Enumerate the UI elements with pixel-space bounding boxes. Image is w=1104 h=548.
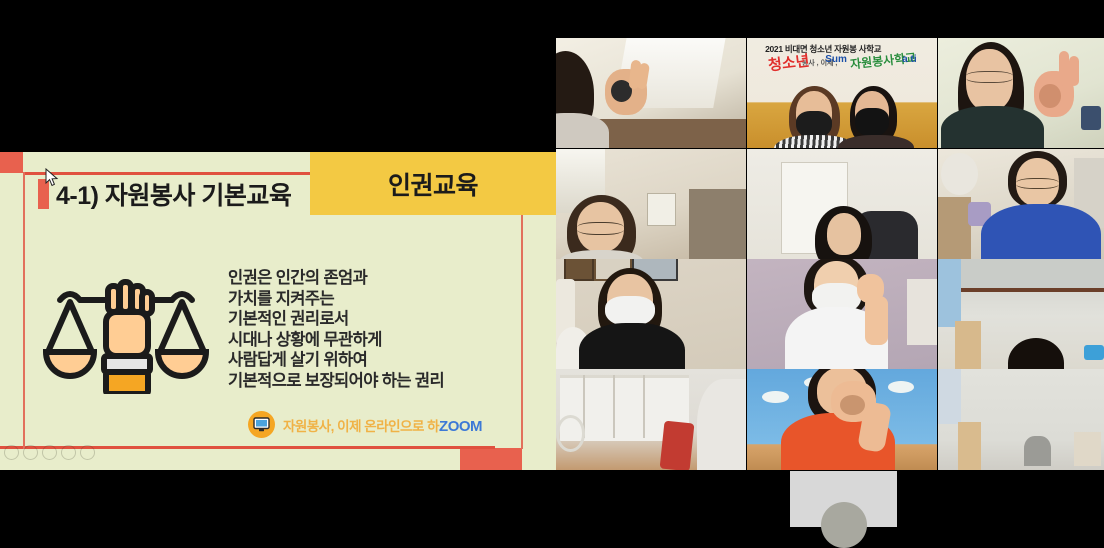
red-chair [660,420,695,470]
fist-holding-scales-of-justice-icon [36,268,216,394]
default-avatar-icon [821,502,867,548]
mouse-pointer-icon [45,168,59,187]
furniture [958,422,981,470]
slide-footer-label: 자원봉사, 이제 온라인으로 하 [283,419,439,434]
participant-tile-6[interactable] [938,149,1104,259]
pointer-icon[interactable] [4,445,19,460]
slide-title-text: 4-1) 자원봉사 기본교육 [56,176,291,212]
stamp-icon[interactable] [42,445,57,460]
slide-rule-left [23,172,25,449]
slide-corner-decoration-top-left [0,152,23,173]
participant-tile-3[interactable] [938,38,1104,148]
object [1084,345,1104,360]
participant-tile-7[interactable] [556,259,746,369]
object [1074,432,1101,466]
torso [579,323,685,369]
wall-panel [938,259,961,327]
slide-rule-right [521,215,523,449]
chair-wheel [556,415,585,451]
banner-sticker-tail: a ti [902,54,916,65]
head [827,213,861,255]
object [1024,436,1051,466]
finger [1059,51,1069,86]
eraser-icon[interactable] [80,445,95,460]
ceiling [938,259,1104,292]
paper [647,193,676,226]
slide-footer-text: 자원봉사, 이제 온라인으로 하ZOOM [283,415,482,435]
participant-tile-12[interactable] [938,369,1104,470]
glasses-icon [1016,178,1059,190]
banner-sticker-red: 청소년 [767,50,811,76]
object [1081,106,1101,130]
screen-share-area[interactable]: 4-1) 자원봉사 기본교육 인권교육 [0,0,556,527]
participant-tile-1[interactable] [556,38,746,148]
ok-hand-hole [1039,84,1061,108]
participant-tile-8[interactable] [747,259,937,369]
torso [981,204,1101,259]
cabinet-divider [613,375,615,438]
shelf [938,197,971,259]
glasses-icon [966,71,1012,83]
photo-wall [689,189,746,259]
participant-tile-9[interactable] [938,259,1104,369]
participant-tile-13-camera-off[interactable] [790,471,897,527]
pen-icon[interactable] [23,445,38,460]
mirror [941,153,978,195]
furniture [955,321,982,369]
monitor-icon [248,411,275,438]
slide-topic-badge: 인권교육 [310,152,556,215]
zoom-brand-label: ZOOM [439,418,482,435]
wall-panel [938,369,961,424]
arm [865,296,888,344]
person-shoulder [697,379,746,470]
glasses-icon [577,222,625,235]
shelf [907,279,937,345]
slide-title: 4-1) 자원봉사 기본교육 [38,176,291,212]
participant-tile-5[interactable] [747,149,937,259]
participant-tile-2[interactable]: 2021 비대면 청소년 자원봉 사학교 봉사 , 이제 , 청소년 Sum 자… [747,38,937,148]
slide-topic-badge-label: 인권교육 [388,166,478,202]
participant-gallery[interactable]: 2021 비대면 청소년 자원봉 사학교 봉사 , 이제 , 청소년 Sum 자… [556,0,1104,527]
torso [941,106,1044,148]
annotation-toolbar[interactable] [4,445,95,460]
picture-frame [564,259,595,281]
banner-sticker-mid: Sum [825,54,847,65]
event-banner: 2021 비대면 청소년 자원봉 사학교 봉사 , 이제 , 청소년 Sum 자… [758,42,925,75]
participant-tile-10[interactable] [556,369,746,470]
spotlight-icon[interactable] [61,445,76,460]
slide-footer: 자원봉사, 이제 온라인으로 하ZOOM [248,411,482,438]
slide-corner-decoration-bottom-right [460,448,522,470]
zoom-meeting-window: 4-1) 자원봉사 기본교육 인권교육 [0,0,1104,527]
cabinet-divider [643,375,645,438]
participant-tile-4[interactable] [556,149,746,259]
slide-body-text: 인권은 인간의 존엄과 가치를 지켜주는 기본적인 권리로서 시대나 상황에 무… [228,268,444,391]
finger [1069,56,1079,87]
participant-tile-11[interactable] [747,369,937,470]
